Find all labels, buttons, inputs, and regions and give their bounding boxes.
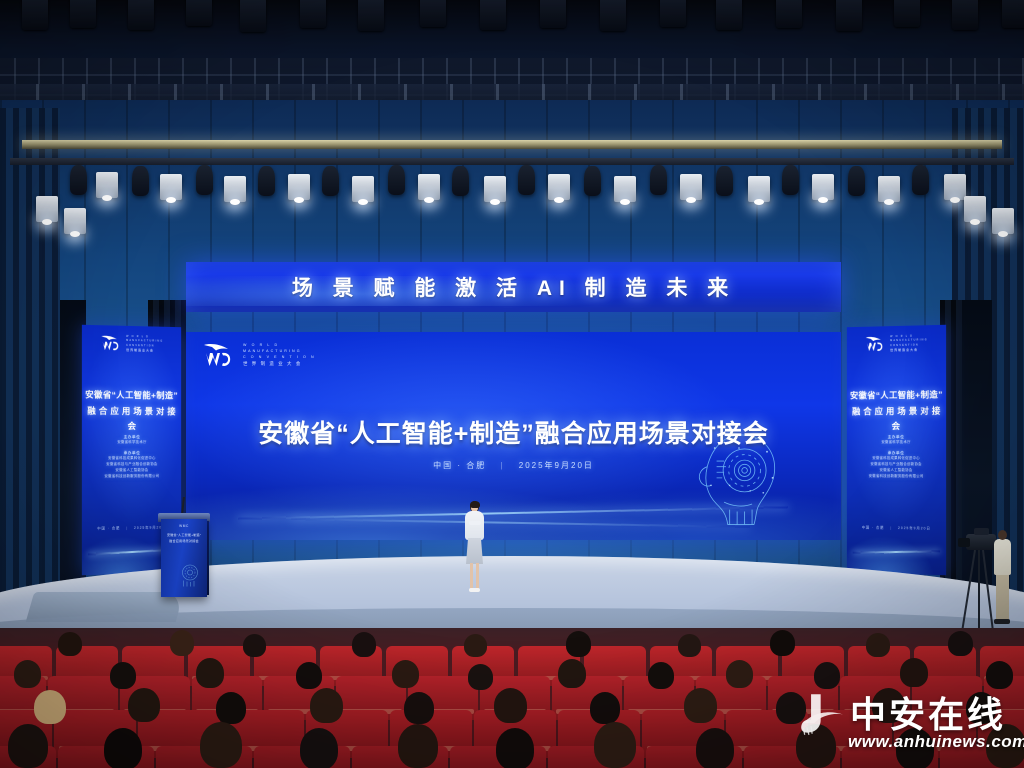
organizer-line: 安徽省科技创新服务股份有限公司 bbox=[847, 474, 946, 480]
banner-location: 中国 · 合肥 bbox=[97, 526, 120, 530]
audience-head bbox=[104, 728, 142, 768]
ceiling-rig bbox=[952, 0, 978, 30]
stage-light-fixture bbox=[716, 166, 733, 196]
stage-light-fixture bbox=[782, 165, 799, 195]
operator-shoes bbox=[994, 619, 1010, 624]
stage-light-fixture bbox=[196, 165, 213, 195]
banner-divider: | bbox=[890, 526, 892, 530]
stage-light-fixture bbox=[680, 174, 702, 200]
stage-light-fixture bbox=[288, 174, 310, 200]
podium-ai-head-graphic bbox=[175, 559, 205, 589]
front-truss-bar bbox=[22, 140, 1002, 149]
banner-title: 安徽省“人工智能+制造” 融 合 应 用 场 景 对 接 会 bbox=[847, 387, 946, 434]
banner-date: 2025年9月20日 bbox=[898, 526, 931, 531]
audience-head bbox=[300, 728, 338, 768]
tripod-leg bbox=[982, 550, 994, 634]
audience-head bbox=[814, 662, 840, 689]
wmc-line-manufacturing: MANUFACTURING bbox=[243, 349, 316, 354]
audience-head bbox=[496, 728, 534, 768]
presenter-shoes bbox=[469, 588, 480, 592]
wmc-logo: W O R L D MANUFACTURING C O N V E N T I … bbox=[202, 342, 316, 368]
stage-light-fixture bbox=[650, 165, 667, 195]
banner-title-line-1: 安徽省“人工智能+制造” bbox=[847, 387, 946, 404]
stage-light-fixture bbox=[748, 176, 770, 202]
stage-light-fixture bbox=[132, 166, 149, 196]
presenter-jacket bbox=[465, 511, 484, 540]
banner-organizers: 主办单位 安徽省科学技术厅 承办单位 安徽省科技成果转化促进中心 安徽省科技与产… bbox=[82, 430, 181, 480]
ceiling-rig bbox=[776, 0, 802, 28]
audience-head bbox=[684, 688, 717, 723]
audience-head bbox=[464, 634, 487, 657]
audience-head bbox=[866, 633, 890, 657]
side-banner-right: W O R L D MANUFACTURING CONVENTION 世界制造业… bbox=[847, 325, 946, 575]
stage-light-fixture bbox=[70, 165, 87, 195]
presenter-leg-left bbox=[470, 563, 473, 589]
audience-head bbox=[8, 724, 48, 768]
stage-light-fixture bbox=[944, 174, 966, 200]
wmc-line-chinese: 世 界 制 造 业 大 会 bbox=[243, 361, 316, 367]
ceiling-rig bbox=[836, 0, 862, 31]
event-location-date: 中国 · 合肥 | 2025年9月20日 bbox=[186, 460, 841, 471]
stage-light-fixture bbox=[160, 174, 182, 200]
location-date-divider: | bbox=[500, 461, 504, 470]
stage-light-fixture bbox=[912, 165, 929, 195]
audience-head bbox=[110, 662, 136, 689]
audience-head bbox=[900, 658, 928, 687]
stage-light-fixture bbox=[452, 166, 469, 196]
presenter-leg-right bbox=[476, 563, 479, 589]
podium-title-text: 安徽省“人工智能+制造” 融合应用场景对接会 bbox=[161, 533, 207, 545]
wmc-wordmark: W O R L D MANUFACTURING CONVENTION 世界制造业… bbox=[126, 335, 163, 353]
presenter-hair bbox=[470, 501, 480, 508]
podium-wmc-logo: WMC bbox=[161, 524, 207, 528]
audience-head bbox=[566, 631, 591, 657]
stage-light-fixture bbox=[484, 176, 506, 202]
organizer-line: 安徽省科技创新服务股份有限公司 bbox=[82, 474, 181, 480]
ceiling-rig bbox=[1002, 0, 1024, 28]
podium-title-line-2: 融合应用场景对接会 bbox=[161, 539, 207, 545]
audience-head bbox=[404, 692, 434, 724]
stage-light-fixture bbox=[812, 174, 834, 200]
audience-head bbox=[726, 660, 753, 688]
stage-photo-scene: 场 景 赋 能 激 活 AI 制 造 未 来 W O R L D MANUFAC… bbox=[0, 0, 1024, 768]
audience-head bbox=[696, 728, 734, 768]
ceiling-rig bbox=[186, 0, 212, 26]
ceiling-rig bbox=[70, 0, 96, 28]
stage-light-fixture bbox=[36, 196, 58, 222]
video-camera bbox=[966, 534, 996, 550]
audience-head bbox=[310, 688, 343, 723]
stage-light-fixture bbox=[992, 208, 1014, 234]
wmc-logo: W O R L D MANUFACTURING CONVENTION 世界制造业… bbox=[847, 334, 946, 354]
wmc-wordmark: W O R L D MANUFACTURING CONVENTION 世界制造业… bbox=[890, 334, 928, 352]
ceiling-rig bbox=[128, 0, 154, 30]
audience-head bbox=[243, 634, 266, 657]
ceiling-rig bbox=[540, 0, 566, 28]
wmc-mark-icon bbox=[202, 342, 236, 368]
watermark: 中安在线 www.anhuinews.com bbox=[798, 688, 1010, 758]
wmc-mark-icon bbox=[865, 335, 887, 352]
wmc-line-world: W O R L D bbox=[243, 343, 316, 348]
audience-head bbox=[196, 658, 224, 688]
ceiling-rig bbox=[894, 0, 920, 27]
audience-head bbox=[216, 692, 246, 724]
ceiling-rig bbox=[660, 0, 686, 27]
operator-head bbox=[998, 530, 1007, 540]
banner-location: 中国 · 合肥 bbox=[862, 525, 885, 529]
watermark-url: www.anhuinews.com bbox=[848, 732, 1024, 752]
audience-head bbox=[128, 688, 160, 722]
audience-head bbox=[770, 630, 795, 656]
wmc-wordmark: W O R L D MANUFACTURING C O N V E N T I … bbox=[243, 343, 316, 368]
wmc-line-convention: C O N V E N T I O N bbox=[243, 355, 316, 360]
stage-light-fixture bbox=[878, 176, 900, 202]
stage-light-fixture bbox=[584, 166, 601, 196]
audience-head bbox=[58, 632, 82, 656]
audience-head bbox=[14, 660, 41, 688]
audience-head bbox=[594, 722, 636, 768]
tripod-column bbox=[978, 550, 980, 632]
stage-light-fixture bbox=[224, 176, 246, 202]
stage-light-fixture bbox=[96, 172, 118, 198]
audience-head bbox=[494, 688, 527, 723]
front-truss-bar-lower bbox=[10, 158, 1014, 165]
presenter-on-stage bbox=[461, 501, 487, 593]
stage-light-fixture bbox=[518, 165, 535, 195]
watermark-brand: 中安在线 bbox=[850, 686, 1006, 738]
ceiling-rig bbox=[600, 0, 626, 31]
audience-head bbox=[468, 664, 493, 690]
wmc-line-chinese: 世界制造业大会 bbox=[890, 348, 928, 353]
wmc-logo: W O R L D MANUFACTURING CONVENTION 世界制造业… bbox=[82, 334, 181, 354]
stage-light-fixture bbox=[614, 176, 636, 202]
stage-light-fixture bbox=[848, 166, 865, 196]
audience-head bbox=[352, 632, 376, 657]
banner-title: 安徽省“人工智能+制造” 融 合 应 用 场 景 对 接 会 bbox=[82, 387, 181, 434]
audience-head bbox=[392, 660, 419, 688]
banner-title-line-1: 安徽省“人工智能+制造” bbox=[82, 387, 181, 404]
ceiling-rig bbox=[480, 0, 506, 30]
presenter-skirt bbox=[466, 538, 483, 564]
wmc-line-chinese: 世界制造业大会 bbox=[126, 348, 163, 353]
stage-light-fixture bbox=[64, 208, 86, 234]
audience-head bbox=[34, 690, 66, 724]
event-date: 2025年9月20日 bbox=[519, 461, 594, 470]
audience-head bbox=[558, 659, 586, 688]
stage-light-fixture bbox=[322, 166, 339, 196]
banner-divider: | bbox=[126, 526, 128, 530]
top-led-banner: 场 景 赋 能 激 活 AI 制 造 未 来 bbox=[186, 262, 841, 312]
audience-head bbox=[678, 634, 701, 657]
audience-head bbox=[398, 724, 438, 768]
camera-lens bbox=[958, 538, 970, 547]
audience-head bbox=[590, 692, 620, 724]
ceiling-rig bbox=[716, 0, 742, 30]
stage-light-fixture bbox=[388, 165, 405, 195]
camera-viewfinder bbox=[974, 528, 989, 535]
stage-light-fixture bbox=[352, 176, 374, 202]
ceiling-rig bbox=[22, 0, 48, 30]
stage-curtain-left bbox=[0, 108, 60, 628]
main-led-screen: W O R L D MANUFACTURING C O N V E N T I … bbox=[186, 332, 841, 540]
ceiling-rig bbox=[420, 0, 446, 27]
wmc-mark-icon bbox=[100, 334, 122, 352]
audience-head bbox=[170, 630, 194, 656]
audience-head bbox=[648, 662, 674, 689]
presenter-arms bbox=[469, 521, 481, 525]
audience-head bbox=[948, 631, 973, 656]
audience-head bbox=[986, 661, 1013, 689]
stage-light-fixture bbox=[258, 166, 275, 196]
host-line: 安徽省科学技术厅 bbox=[847, 440, 946, 446]
stage-light-fixture bbox=[964, 196, 986, 222]
event-location: 中国 · 合肥 bbox=[433, 461, 486, 470]
host-line: 安徽省科学技术厅 bbox=[82, 440, 181, 446]
event-main-title: 安徽省“人工智能+制造”融合应用场景对接会 bbox=[186, 414, 841, 450]
ceiling-rig bbox=[300, 0, 326, 28]
stage-light-fixture bbox=[418, 174, 440, 200]
ceiling-rig bbox=[358, 0, 384, 31]
ceiling-rig bbox=[240, 0, 266, 32]
zhongan-online-logo-icon bbox=[798, 690, 854, 738]
top-banner-text: 场 景 赋 能 激 活 AI 制 造 未 来 bbox=[292, 272, 735, 302]
audience-head bbox=[200, 722, 242, 768]
banner-organizers: 主办单位 安徽省科学技术厅 承办单位 安徽省科技成果转化促进中心 安徽省科技与产… bbox=[847, 430, 946, 480]
podium-lectern: WMC 安徽省“人工智能+制造” 融合应用场景对接会 bbox=[161, 519, 207, 597]
camera-operator bbox=[966, 528, 1020, 644]
operator-torso bbox=[994, 539, 1011, 575]
operator-legs bbox=[996, 573, 1009, 621]
stage-light-fixture bbox=[548, 174, 570, 200]
audience-head bbox=[296, 662, 322, 689]
podium-title-line-1: 安徽省“人工智能+制造” bbox=[161, 533, 207, 539]
